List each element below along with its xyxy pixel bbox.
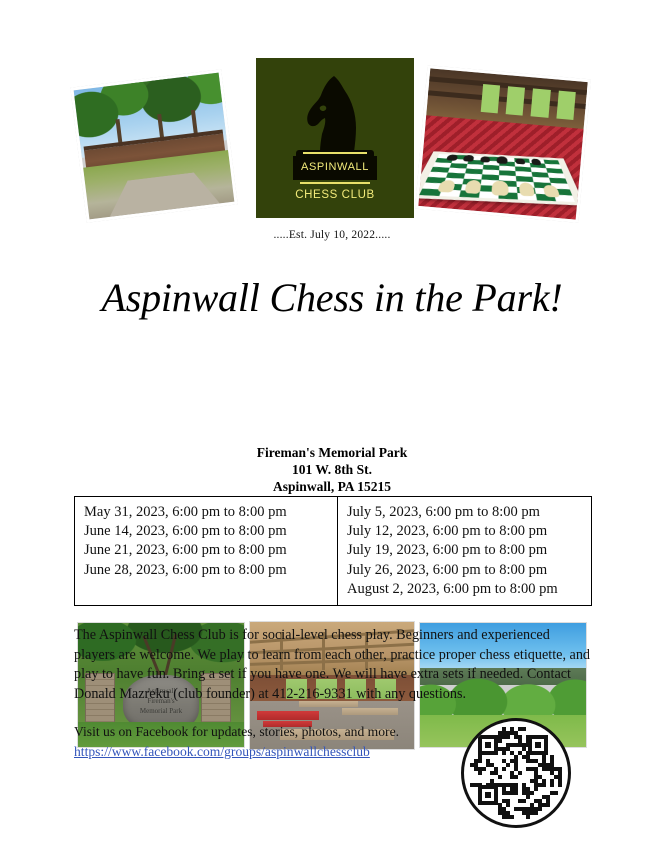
top-photo-row: ASPINWALL CHESS CLUB xyxy=(0,0,664,228)
schedule-row: August 2, 2023, 6:00 pm to 8:00 pm xyxy=(347,580,591,599)
qr-finder-bottom-left xyxy=(478,785,498,805)
qr-finder-top-left xyxy=(478,735,498,755)
schedule-row: July 12, 2023, 6:00 pm to 8:00 pm xyxy=(347,522,591,541)
chess-board-photo xyxy=(415,65,591,223)
park-sign-line-3: Memorial Park xyxy=(78,707,244,715)
schedule-row: July 5, 2023, 6:00 pm to 8:00 pm xyxy=(347,503,591,522)
schedule-row: June 28, 2023, 6:00 pm to 8:00 pm xyxy=(84,561,337,580)
middle-photo-row: Aspinwall Fireman's Memorial Park xyxy=(0,310,664,440)
venue-name: Fireman's Memorial Park xyxy=(0,444,664,461)
logo-chess-club-text: CHESS CLUB xyxy=(256,189,414,201)
facebook-group-qr-code[interactable] xyxy=(461,718,571,828)
facebook-block: Visit us on Facebook for updates, storie… xyxy=(74,722,444,761)
venue-city-state-zip: Aspinwall, PA 15215 xyxy=(0,478,664,495)
schedule-row: July 26, 2023, 6:00 pm to 8:00 pm xyxy=(347,561,591,580)
club-description: The Aspinwall Chess Club is for social-l… xyxy=(74,626,594,704)
flyer-page: ASPINWALL CHESS CLUB xyxy=(0,0,664,860)
logo-aspinwall-text: ASPINWALL xyxy=(256,161,414,173)
knight-chess-piece-icon xyxy=(300,74,370,156)
venue-street: 101 W. 8th St. xyxy=(0,461,664,478)
logo-rule-bottom xyxy=(300,182,370,184)
schedule-row: June 14, 2023, 6:00 pm to 8:00 pm xyxy=(84,522,337,541)
green-white-chessboard-region xyxy=(415,151,584,206)
red-picnic-table-region xyxy=(257,711,319,720)
established-line: .....Est. July 10, 2022..... xyxy=(0,229,664,241)
schedule-column-right: July 5, 2023, 6:00 pm to 8:00 pmJuly 12,… xyxy=(338,497,591,605)
schedule-column-left: May 31, 2023, 6:00 pm to 8:00 pmJune 14,… xyxy=(75,497,338,605)
venue-address-block: Fireman's Memorial Park 101 W. 8th St. A… xyxy=(0,444,664,495)
facebook-group-link[interactable]: https://www.facebook.com/groups/aspinwal… xyxy=(74,742,370,761)
schedule-row: May 31, 2023, 6:00 pm to 8:00 pm xyxy=(84,503,337,522)
qr-finder-top-right xyxy=(528,735,548,755)
schedule-row: July 19, 2023, 6:00 pm to 8:00 pm xyxy=(347,541,591,560)
pavilion-exterior-photo xyxy=(70,69,237,223)
schedule-table: May 31, 2023, 6:00 pm to 8:00 pmJune 14,… xyxy=(74,496,592,606)
chess-club-logo: ASPINWALL CHESS CLUB xyxy=(256,58,414,218)
facebook-invite-text: Visit us on Facebook for updates, storie… xyxy=(74,722,444,741)
logo-rule-top xyxy=(303,152,367,154)
schedule-row: June 21, 2023, 6:00 pm to 8:00 pm xyxy=(84,541,337,560)
